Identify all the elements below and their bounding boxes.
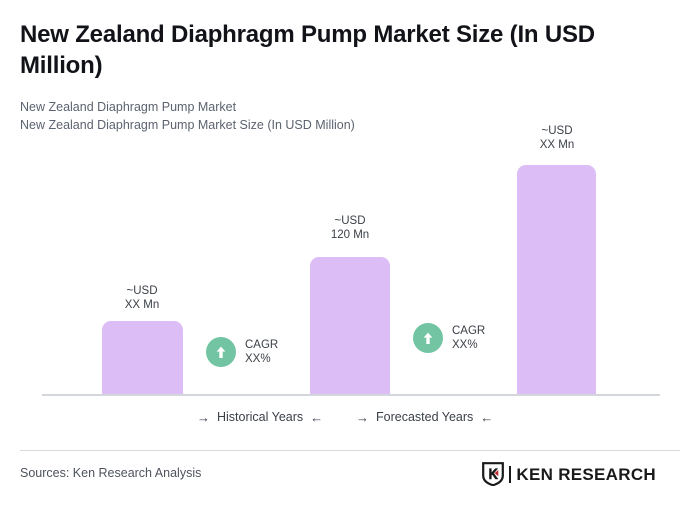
chart-card: New Zealand Diaphragm Pump Market Size (… <box>0 0 700 520</box>
footer-divider <box>20 450 680 451</box>
cagr-badge-2[interactable]: CAGR XX% <box>413 323 485 353</box>
up-arrow-icon <box>206 337 236 367</box>
plot-area: ~USD XX Mn CAGR XX% ~USD 120 Mn <box>0 0 700 400</box>
arrow-right-icon: → <box>356 411 369 424</box>
bar-label-2-line2: 120 Mn <box>290 228 410 242</box>
shield-icon <box>482 462 504 486</box>
historical-years-label: → Historical Years ← <box>197 410 323 424</box>
forecasted-years-text: Forecasted Years <box>376 410 473 424</box>
cagr-badge-2-text: CAGR XX% <box>452 324 485 352</box>
bar-label-1-line2: XX Mn <box>82 298 202 312</box>
bar-label-2: ~USD 120 Mn <box>290 214 410 242</box>
forecasted-years-label: → Forecasted Years ← <box>356 410 493 424</box>
cagr-badge-1-line2: XX% <box>245 352 278 366</box>
cagr-badge-1[interactable]: CAGR XX% <box>206 337 278 367</box>
bar-label-3-line2: XX Mn <box>497 138 617 152</box>
arrow-right-icon: → <box>197 411 210 424</box>
bar-label-2-line1: ~USD <box>290 214 410 228</box>
bar-label-3-line1: ~USD <box>497 124 617 138</box>
bar-2[interactable] <box>310 257 390 395</box>
bar-label-1-line1: ~USD <box>82 284 202 298</box>
arrow-left-icon: ← <box>310 411 323 424</box>
sources-text: Sources: Ken Research Analysis <box>20 466 201 480</box>
cagr-badge-1-text: CAGR XX% <box>245 338 278 366</box>
arrow-left-icon: ← <box>480 411 493 424</box>
bar-1[interactable] <box>102 321 183 395</box>
axis-baseline <box>42 394 660 396</box>
cagr-badge-2-line2: XX% <box>452 338 485 352</box>
cagr-badge-1-line1: CAGR <box>245 338 278 352</box>
bar-label-1: ~USD XX Mn <box>82 284 202 312</box>
bar-label-3: ~USD XX Mn <box>497 124 617 152</box>
logo-wordmark: KEN RESEARCH <box>516 466 656 483</box>
cagr-badge-2-line1: CAGR <box>452 324 485 338</box>
ken-research-logo: KEN RESEARCH <box>482 462 656 486</box>
historical-years-text: Historical Years <box>217 410 303 424</box>
bar-3[interactable] <box>517 165 596 395</box>
up-arrow-icon <box>413 323 443 353</box>
logo-divider <box>509 466 511 483</box>
year-axis: → Historical Years ← → Forecasted Years … <box>42 410 660 434</box>
